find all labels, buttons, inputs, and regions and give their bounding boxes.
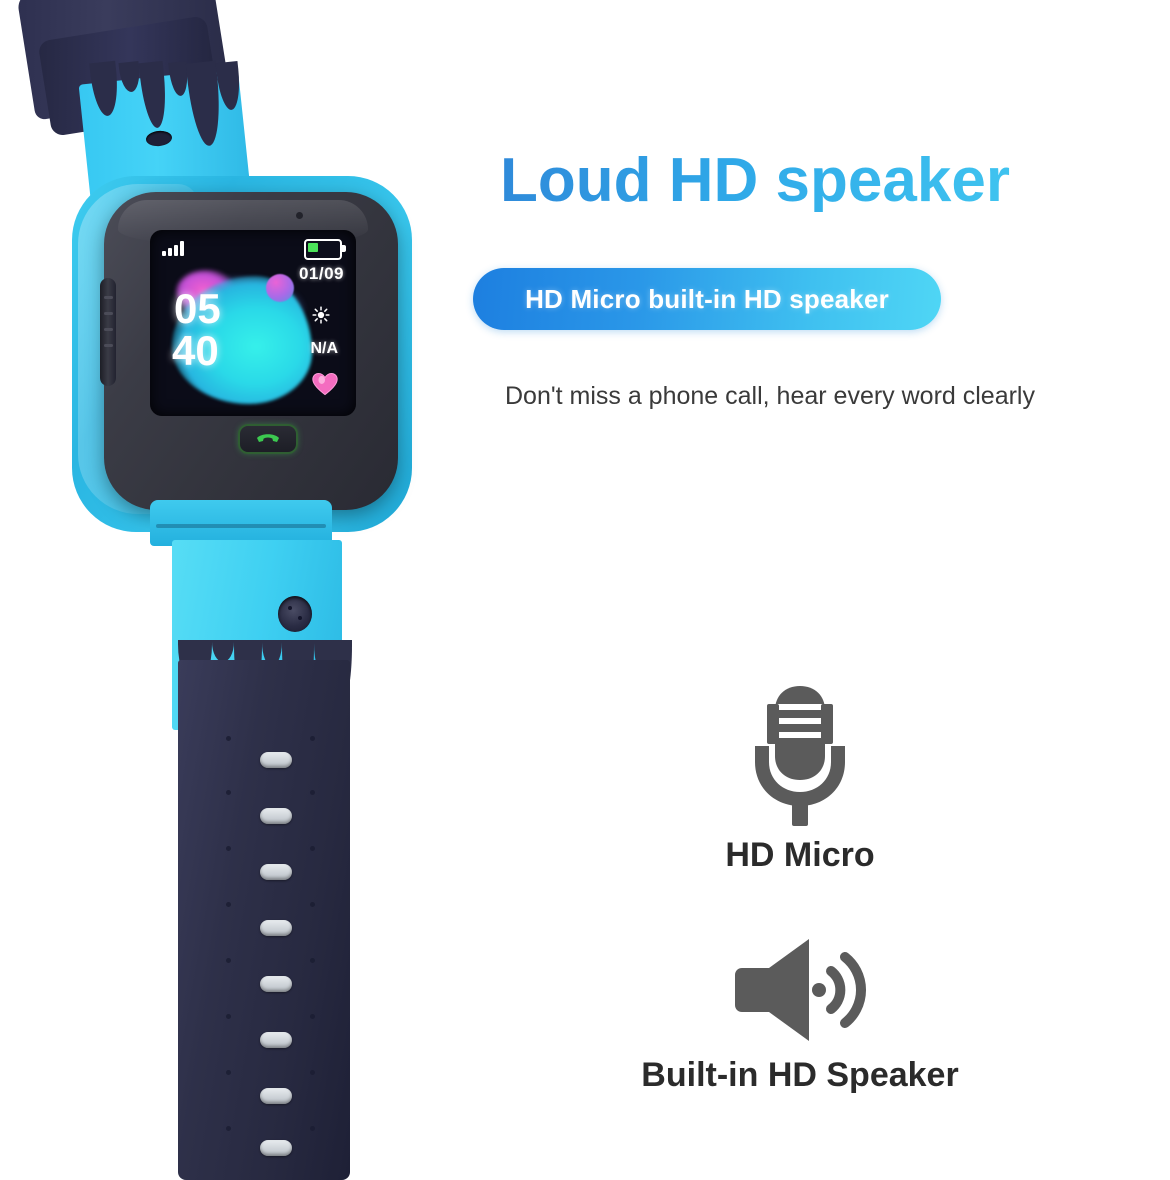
sun-icon: [312, 306, 330, 324]
phone-handset-icon: [255, 432, 281, 446]
feature-badge-label: HD Micro built-in HD speaker: [525, 284, 889, 315]
camera-lens: [278, 596, 312, 632]
signal-bars-icon: [162, 240, 184, 256]
watch-side-button[interactable]: [100, 278, 116, 386]
watch-screen[interactable]: 01/09 05 40 N/A: [150, 230, 356, 416]
sensor-dot: [296, 212, 303, 219]
side-button-ridge: [104, 344, 113, 347]
side-button-ridge: [104, 312, 113, 315]
feature-hd-micro: HD Micro: [590, 680, 1010, 875]
product-photo-smart-watch: 01/09 05 40 N/A: [0, 0, 470, 1159]
feature-label: Built-in HD Speaker: [590, 1056, 1010, 1095]
side-button-ridge: [104, 296, 113, 299]
call-button[interactable]: [238, 424, 298, 454]
camera-detail-dot: [298, 616, 302, 620]
strap-buckle-hole: [260, 864, 292, 880]
feature-label: HD Micro: [590, 836, 1010, 875]
page-headline: Loud HD speaker: [475, 150, 1035, 212]
watchface-weather-value: N/A: [310, 340, 338, 358]
strap-buckle-hole: [260, 1140, 292, 1156]
strap-buckle-hole: [260, 920, 292, 936]
watchface-blob-ball: [266, 274, 294, 302]
battery-icon: [304, 239, 342, 260]
watchface-hours: 05: [174, 288, 221, 330]
page-subtitle: Don't miss a phone call, hear every word…: [470, 382, 1070, 411]
feature-built-in-speaker: Built-in HD Speaker: [590, 930, 1010, 1095]
strap-buckle-hole: [260, 1088, 292, 1104]
speaker-icon: [590, 930, 1010, 1050]
watchface-minutes: 40: [172, 330, 219, 372]
strap-buckle-hole: [260, 1032, 292, 1048]
marketing-copy: Loud HD speaker HD Micro built-in HD spe…: [470, 0, 1170, 1159]
strap-buckle-hole: [260, 752, 292, 768]
watchface-date: 01/09: [299, 264, 344, 284]
watch-lug-line: [156, 524, 326, 528]
camera-detail-dot: [288, 606, 292, 610]
marketing-banner: 01/09 05 40 N/A: [0, 0, 1170, 1159]
side-button-ridge: [104, 328, 113, 331]
heart-icon: [312, 372, 338, 396]
strap-buckle-hole: [260, 976, 292, 992]
strap-buckle-hole: [260, 808, 292, 824]
microphone-icon: [590, 680, 1010, 830]
feature-badge: HD Micro built-in HD speaker: [473, 268, 941, 330]
